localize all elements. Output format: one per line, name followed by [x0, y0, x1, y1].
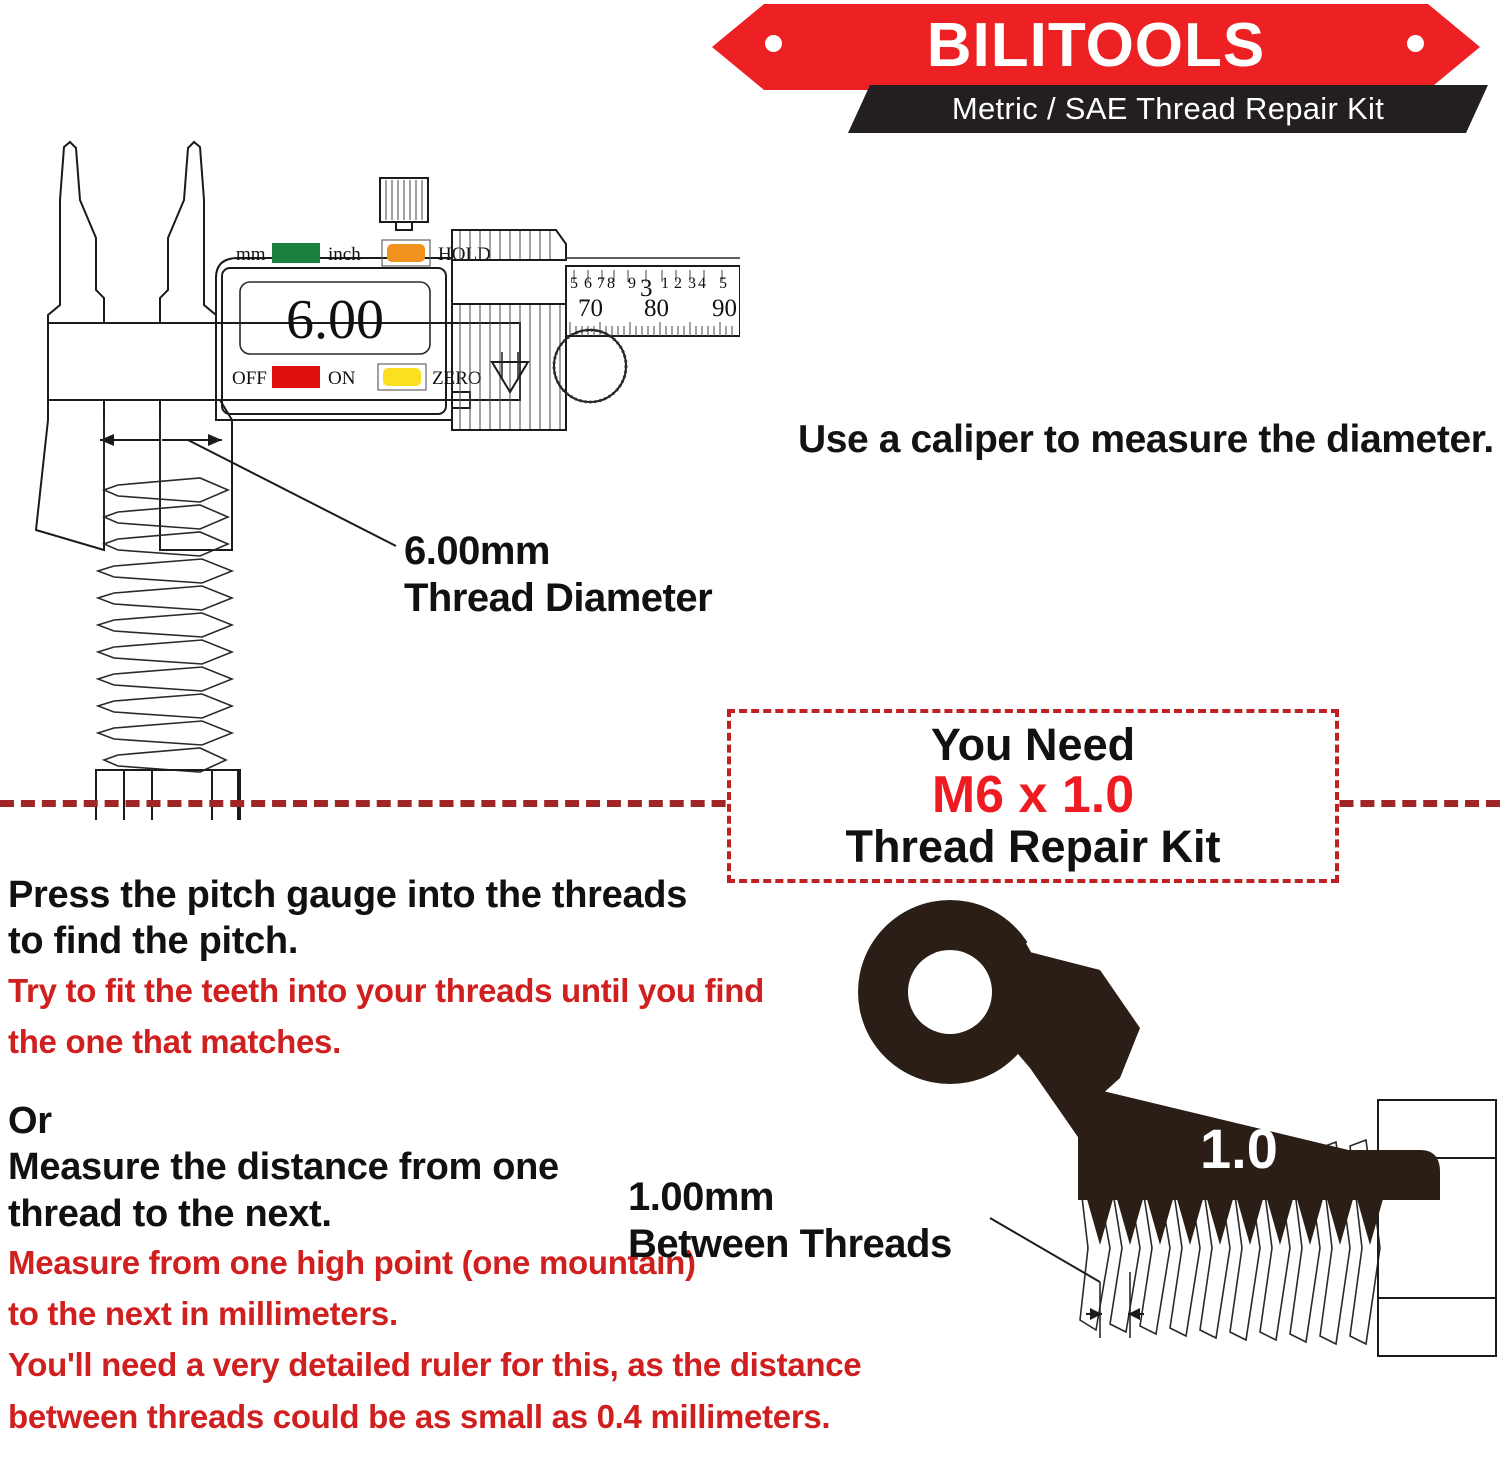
- instruction-block-pitch-gauge: Press the pitch gauge into the threads t…: [8, 872, 764, 1067]
- brand-name: BILITOOLS: [927, 15, 1266, 80]
- caliper-mm-green-swatch: [272, 243, 320, 263]
- svg-text:2: 2: [674, 275, 682, 292]
- caliper-on-label: ON: [328, 368, 356, 389]
- thread-diameter-value: 6.00mm: [404, 528, 712, 575]
- brand-subtitle: Metric / SAE Thread Repair Kit: [952, 93, 1384, 126]
- svg-text:1: 1: [661, 275, 669, 292]
- bolt-vertical-illustration: [96, 434, 396, 820]
- instruction-block-measure: Or Measure the distance from one thread …: [8, 1098, 861, 1442]
- caliper-inch-label: inch: [328, 244, 361, 265]
- infographic-page: BILITOOLS Metric / SAE Thread Repair Kit: [0, 0, 1500, 1468]
- svg-text:4: 4: [698, 275, 706, 292]
- pitch-dimension-callout: [990, 1218, 1144, 1338]
- scale-number-80: 80: [644, 295, 669, 322]
- instr2-red-line-2: to the next in millimeters.: [8, 1288, 861, 1339]
- svg-text:3: 3: [688, 275, 696, 292]
- scale-number-70: 70: [578, 295, 603, 322]
- brand-banner-red-plate: BILITOOLS: [712, 4, 1480, 90]
- banner-hole-right-icon: [1407, 35, 1424, 52]
- instr1-red-line-1: Try to fit the teeth into your threads u…: [8, 965, 764, 1016]
- svg-text:9: 9: [628, 275, 636, 292]
- pitch-gauge-ring-hole: [908, 950, 992, 1034]
- caliper-indicator-row-bottom: OFF ON ZERO: [232, 364, 482, 390]
- instr2-red-line-3: You'll need a very detailed ruler for th…: [8, 1339, 861, 1390]
- caliper-hold-label: HOLD: [438, 244, 491, 265]
- you-need-line1: You Need: [931, 722, 1135, 768]
- caliper-on-red-swatch: [272, 366, 320, 388]
- svg-text:7: 7: [597, 275, 605, 292]
- caliper-roller-wheel: [554, 330, 626, 402]
- caliper-off-label: OFF: [232, 368, 267, 389]
- instr1-black-line-2: to find the pitch.: [8, 918, 764, 964]
- you-need-spec: M6 x 1.0: [932, 768, 1134, 823]
- thread-diameter-label: Thread Diameter: [404, 575, 712, 622]
- brand-banner: BILITOOLS Metric / SAE Thread Repair Kit: [712, 0, 1500, 140]
- caliper-scale-ruler: 5 6 7 8 9 3 1 2 3 4 5 70 80 90: [566, 258, 740, 336]
- brand-banner-black-plate: Metric / SAE Thread Repair Kit: [848, 85, 1488, 133]
- pitch-gauge-and-bolt-diagram: 1.0: [800, 900, 1500, 1468]
- svg-text:8: 8: [607, 275, 615, 292]
- svg-text:5: 5: [719, 275, 727, 292]
- banner-hole-left-icon: [765, 35, 782, 52]
- caliper-thumb-screw: [380, 178, 428, 230]
- svg-text:6: 6: [584, 275, 592, 292]
- instr2-black-line-1: Or: [8, 1098, 861, 1144]
- instr1-red-line-2: the one that matches.: [8, 1016, 764, 1067]
- pitch-gauge-size-label: 1.0: [1200, 1117, 1278, 1180]
- instr1-black-line-1: Press the pitch gauge into the threads: [8, 872, 764, 918]
- caliper-and-bolt-diagram: mm inch HOLD 6.00 OFF ON ZERO: [0, 130, 740, 820]
- thread-diameter-callout: 6.00mm Thread Diameter: [404, 528, 712, 622]
- caliper-lcd: 6.00: [240, 282, 430, 354]
- caliper-display-value: 6.00: [286, 289, 384, 351]
- you-need-line3: Thread Repair Kit: [845, 823, 1220, 870]
- pitch-gauge-blade: 1.0: [858, 900, 1440, 1245]
- caliper-zero-yellow-swatch: [383, 368, 421, 386]
- caliper-mm-label: mm: [236, 244, 266, 265]
- caliper-hold-orange-swatch: [387, 244, 425, 262]
- you-need-box: You Need M6 x 1.0 Thread Repair Kit: [727, 709, 1339, 883]
- instr2-red-line-4: between threads could be as small as 0.4…: [8, 1391, 861, 1442]
- scale-number-90: 90: [712, 295, 737, 322]
- svg-text:5: 5: [570, 275, 578, 292]
- caliper-zero-label: ZERO: [432, 368, 482, 389]
- caliper-hint-text: Use a caliper to measure the diameter.: [798, 418, 1494, 462]
